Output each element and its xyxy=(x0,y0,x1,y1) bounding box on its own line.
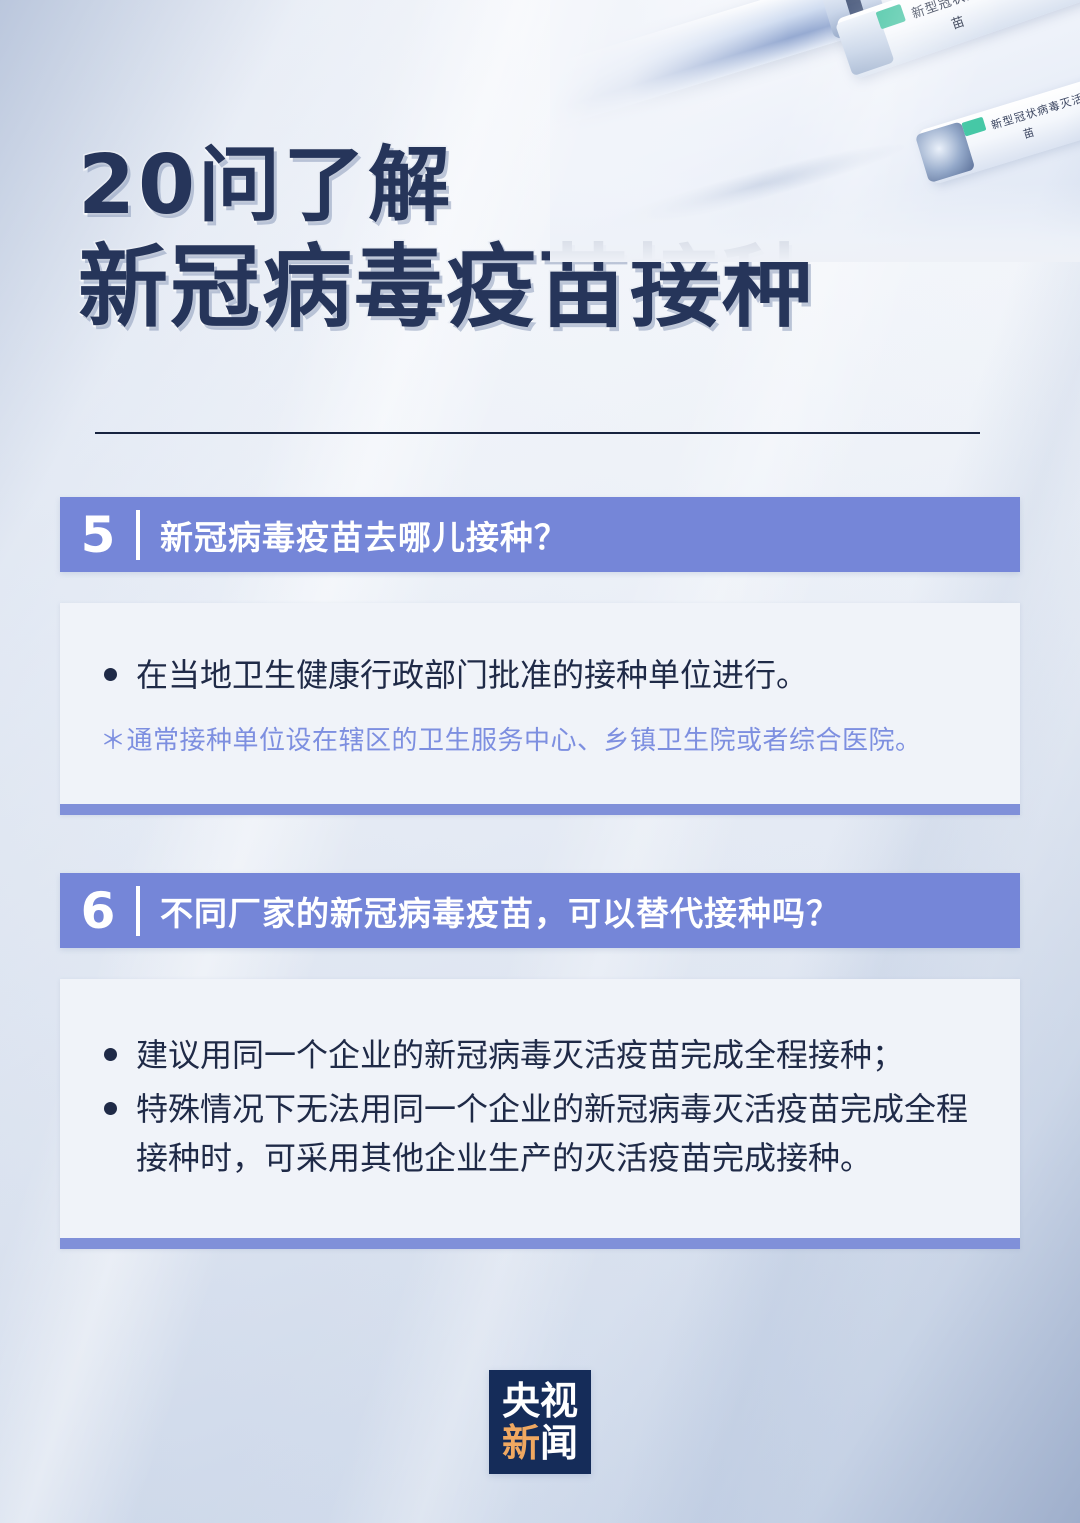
qa-block-6: 6 不同厂家的新冠病毒疫苗，可以替代接种吗？ 建议用同一个企业的新冠病毒灭活疫苗… xyxy=(60,873,1020,1249)
question-number-6: 6 xyxy=(60,886,136,936)
title-divider-rule xyxy=(95,432,980,434)
syringe-grip xyxy=(842,0,865,20)
question-divider xyxy=(136,510,140,560)
answer-card-5: 在当地卫生健康行政部门批准的接种单位进行。 ＊通常接种单位设在辖区的卫生服务中心… xyxy=(60,603,1020,815)
logo-char-shi: 视 xyxy=(540,1382,578,1420)
question-text-5: 新冠病毒疫苗去哪儿接种？ xyxy=(160,511,568,559)
poster-canvas: 新型冠状病毒灭活疫 苗 新型冠状病毒灭活疫 苗 20问了解 新冠病毒疫苗接种 5… xyxy=(0,0,1080,1523)
answer-bullet-list-6: 建议用同一个企业的新冠病毒灭活疫苗完成全程接种； 特殊情况下无法用同一个企业的新… xyxy=(100,1031,984,1184)
logo-row-bottom: 新 闻 xyxy=(502,1424,578,1462)
vial-label-text: 新型冠状病毒灭活疫 xyxy=(909,0,1034,22)
qa-block-5: 5 新冠病毒疫苗去哪儿接种？ 在当地卫生健康行政部门批准的接种单位进行。 ＊通常… xyxy=(60,497,1020,815)
answer-note-5: ＊通常接种单位设在辖区的卫生服务中心、乡镇卫生院或者综合医院。 xyxy=(100,723,984,761)
answer-card-6: 建议用同一个企业的新冠病毒灭活疫苗完成全程接种； 特殊情况下无法用同一个企业的新… xyxy=(60,979,1020,1249)
logo-char-xin: 新 xyxy=(502,1424,540,1462)
vial-cap-icon xyxy=(835,10,895,76)
question-text-6: 不同厂家的新冠病毒疫苗，可以替代接种吗？ xyxy=(160,887,840,935)
syringe-shadow xyxy=(582,133,908,245)
syringe-illustration xyxy=(550,0,883,133)
vial-green-band xyxy=(876,4,906,29)
vial-green-band xyxy=(961,117,986,137)
vial-label-text-2: 苗 xyxy=(1021,124,1036,143)
vial-cap-icon xyxy=(915,121,976,183)
vial-label-text-2: 苗 xyxy=(948,11,966,33)
question-header-6: 6 不同厂家的新冠病毒疫苗，可以替代接种吗？ xyxy=(60,873,1020,948)
list-item: 特殊情况下无法用同一个企业的新冠病毒灭活疫苗完成全程接种时，可采用其他企业生产的… xyxy=(100,1085,984,1184)
vaccine-vial-secondary: 新型冠状病毒灭活疫 苗 xyxy=(918,58,1080,185)
vial-label-text: 新型冠状病毒灭活疫 xyxy=(989,86,1080,133)
logo-row-top: 央 视 xyxy=(502,1382,578,1420)
vaccine-vial-primary: 新型冠状病毒灭活疫 苗 xyxy=(836,0,1080,79)
syringe-plunger xyxy=(818,0,889,40)
cctv-news-logo: 央 视 新 闻 xyxy=(489,1370,591,1474)
question-number-5: 5 xyxy=(60,510,136,560)
question-header-5: 5 新冠病毒疫苗去哪儿接种？ xyxy=(60,497,1020,572)
answer-bullet-list-5: 在当地卫生健康行政部门批准的接种单位进行。 xyxy=(100,651,984,701)
list-item: 建议用同一个企业的新冠病毒灭活疫苗完成全程接种； xyxy=(100,1031,984,1081)
hero-vaccine-photo: 新型冠状病毒灭活疫 苗 新型冠状病毒灭活疫 苗 xyxy=(550,0,1080,262)
logo-char-wen: 闻 xyxy=(540,1424,578,1462)
logo-char-yang: 央 xyxy=(502,1382,540,1420)
list-item: 在当地卫生健康行政部门批准的接种单位进行。 xyxy=(100,651,984,701)
question-divider xyxy=(136,886,140,936)
